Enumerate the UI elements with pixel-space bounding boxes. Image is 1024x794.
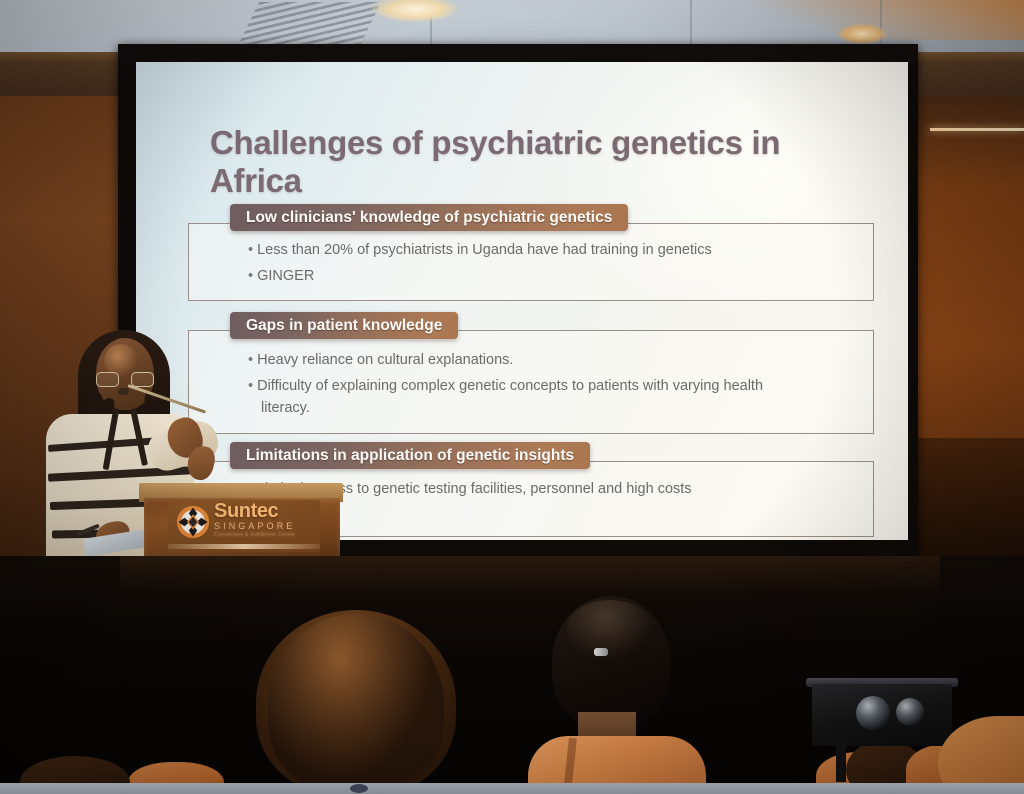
bullet-item: GINGER	[248, 265, 808, 287]
camera-stand	[836, 742, 846, 782]
bottom-ui-bar[interactable]	[0, 783, 1024, 794]
hair-clip-icon	[594, 648, 608, 656]
screen-bezel	[118, 44, 918, 64]
section-bullets-1: Less than 20% of psychiatrists in Uganda…	[248, 239, 808, 291]
wall-light-strip	[930, 128, 1024, 131]
venue-city: SINGAPORE	[214, 521, 322, 532]
ceiling-downlight	[838, 24, 886, 44]
bottom-bar-indicator[interactable]	[350, 784, 368, 793]
section-heading-3: Limitations in application of genetic in…	[230, 442, 590, 469]
audience-left-hair	[268, 614, 444, 794]
section-heading-2: Gaps in patient knowledge	[230, 312, 458, 339]
presentation-slide: Challenges of psychiatric genetics in Af…	[136, 62, 908, 540]
logo-plate-shine	[168, 544, 320, 549]
venue-name: Suntec	[214, 501, 322, 521]
audience-right-hair-highlight	[566, 600, 654, 660]
eyeglasses-icon	[96, 372, 154, 385]
bullet-item: Difficulty of explaining complex genetic…	[248, 375, 808, 419]
suntec-diamond-logo-icon	[176, 505, 210, 539]
section-bullets-2: Heavy reliance on cultural explanations.…	[248, 349, 808, 423]
air-vent-icon	[237, 2, 381, 48]
conference-photo: Challenges of psychiatric genetics in Af…	[0, 0, 1024, 794]
microphone-icon	[118, 388, 129, 395]
slide-title: Challenges of psychiatric genetics in Af…	[210, 124, 870, 200]
stage-floor-glow	[120, 556, 940, 596]
camera-lens-icon	[896, 698, 924, 726]
section-heading-1: Low clinicians' knowledge of psychiatric…	[230, 204, 628, 231]
bullet-item: Less than 20% of psychiatrists in Uganda…	[248, 239, 808, 261]
camera-lens-icon	[856, 696, 890, 730]
venue-logo-text: Suntec SINGAPORE Convention & Exhibition…	[214, 501, 322, 539]
bullet-item: Heavy reliance on cultural explanations.	[248, 349, 808, 371]
venue-tagline: Convention & Exhibition Centre	[214, 532, 322, 539]
